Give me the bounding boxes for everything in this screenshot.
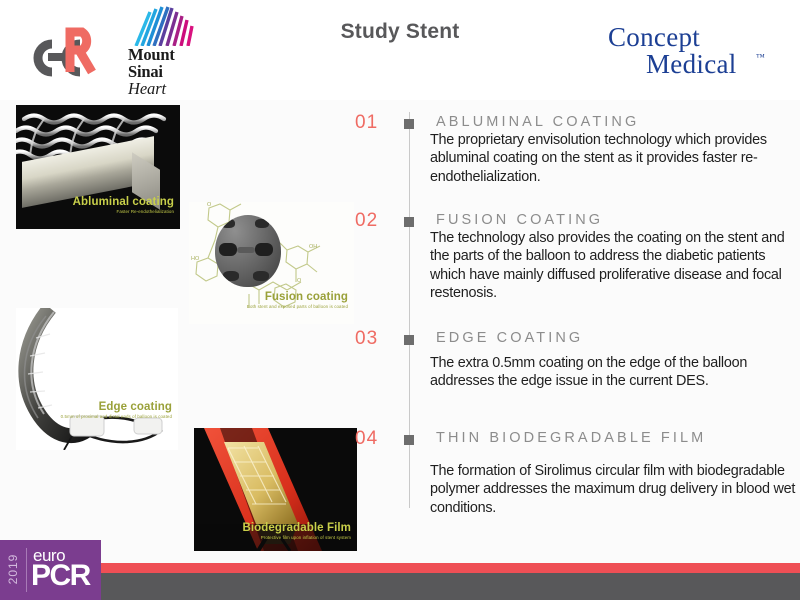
timeline-divider [409, 112, 410, 508]
caption-subtitle: 0.5mm of proximal and distal ends of bal… [61, 415, 172, 420]
photo-edge-coating: Edge coating 0.5mm of proximal and dista… [16, 308, 178, 450]
europcr-divider [26, 548, 27, 592]
feature-list: 01 ABLUMINAL COATING The proprietary env… [352, 106, 800, 526]
mount-sinai-wordmark: Mount Sinai Heart [128, 46, 208, 97]
svg-text:OH: OH [309, 244, 317, 250]
caption-subtitle: Protective film upon inflation of stent … [242, 536, 351, 541]
fusion-stent-closeup [215, 215, 281, 287]
footer-red-bar [0, 563, 800, 573]
concept-medical-trademark: ™ [756, 52, 765, 62]
square-bullet-icon [404, 335, 414, 345]
concept-medical-line2: Medical [646, 49, 737, 80]
square-bullet-icon [404, 435, 414, 445]
caption-subtitle: Faster Re-endothelialization [73, 210, 174, 215]
caption-biodegradable-film: Biodegradable Film Protective film upon … [242, 522, 351, 541]
caption-title: Abluminal coating [73, 196, 174, 208]
balloon-catheter-illustration [16, 308, 178, 450]
item-heading: THIN BIODEGRADABLE FILM [436, 430, 706, 446]
item-number: 01 [355, 112, 378, 134]
mount-sinai-line1: Mount [128, 46, 208, 63]
svg-text:O: O [297, 278, 302, 284]
svg-text:HO: HO [191, 256, 200, 262]
item-number: 02 [355, 210, 378, 232]
europcr-pcr-text: PCR [31, 559, 90, 593]
photo-fusion-coating: O HO OH O O Fusion coating Both stent an… [189, 202, 354, 324]
slide-root: Mount Sinai Heart Study Stent Concept Me… [0, 0, 800, 600]
item-body: The technology also provides the coating… [430, 229, 796, 303]
caption-abluminal-coating: Abluminal coating Faster Re-endotheliali… [73, 196, 174, 215]
square-bullet-icon [404, 119, 414, 129]
concept-medical-logo: Concept Medical ™ [608, 22, 788, 84]
caption-edge-coating: Edge coating 0.5mm of proximal and dista… [61, 401, 172, 420]
svg-text:O: O [207, 202, 212, 208]
mount-sinai-line3: Heart [128, 80, 208, 97]
photo-abluminal-coating: Abluminal coating Faster Re-endotheliali… [16, 105, 180, 229]
item-body: The formation of Sirolimus circular film… [430, 462, 796, 517]
item-number: 04 [355, 428, 378, 450]
mount-sinai-line2: Sinai [128, 63, 208, 80]
item-heading: ABLUMINAL COATING [436, 114, 639, 130]
footer-gray-bar [0, 573, 800, 600]
item-heading: FUSION COATING [436, 212, 603, 228]
photo-biodegradable-film: Biodegradable Film Protective film upon … [194, 428, 357, 551]
item-body: The proprietary envisolution technology … [430, 131, 796, 186]
europcr-year: 2019 [6, 548, 20, 590]
europcr-logo: 2019 euro PCR [0, 540, 101, 600]
caption-title: Edge coating [61, 401, 172, 413]
caption-title: Fusion coating [247, 291, 348, 303]
slide-header: Mount Sinai Heart Study Stent Concept Me… [0, 0, 800, 100]
caption-title: Biodegradable Film [242, 522, 351, 534]
square-bullet-icon [404, 217, 414, 227]
caption-fusion-coating: Fusion coating Both stent and exposed pa… [247, 291, 348, 310]
caption-subtitle: Both stent and exposed parts of balloon … [247, 305, 348, 310]
item-heading: EDGE COATING [436, 330, 583, 346]
item-body: The extra 0.5mm coating on the edge of t… [430, 354, 796, 391]
item-number: 03 [355, 328, 378, 350]
